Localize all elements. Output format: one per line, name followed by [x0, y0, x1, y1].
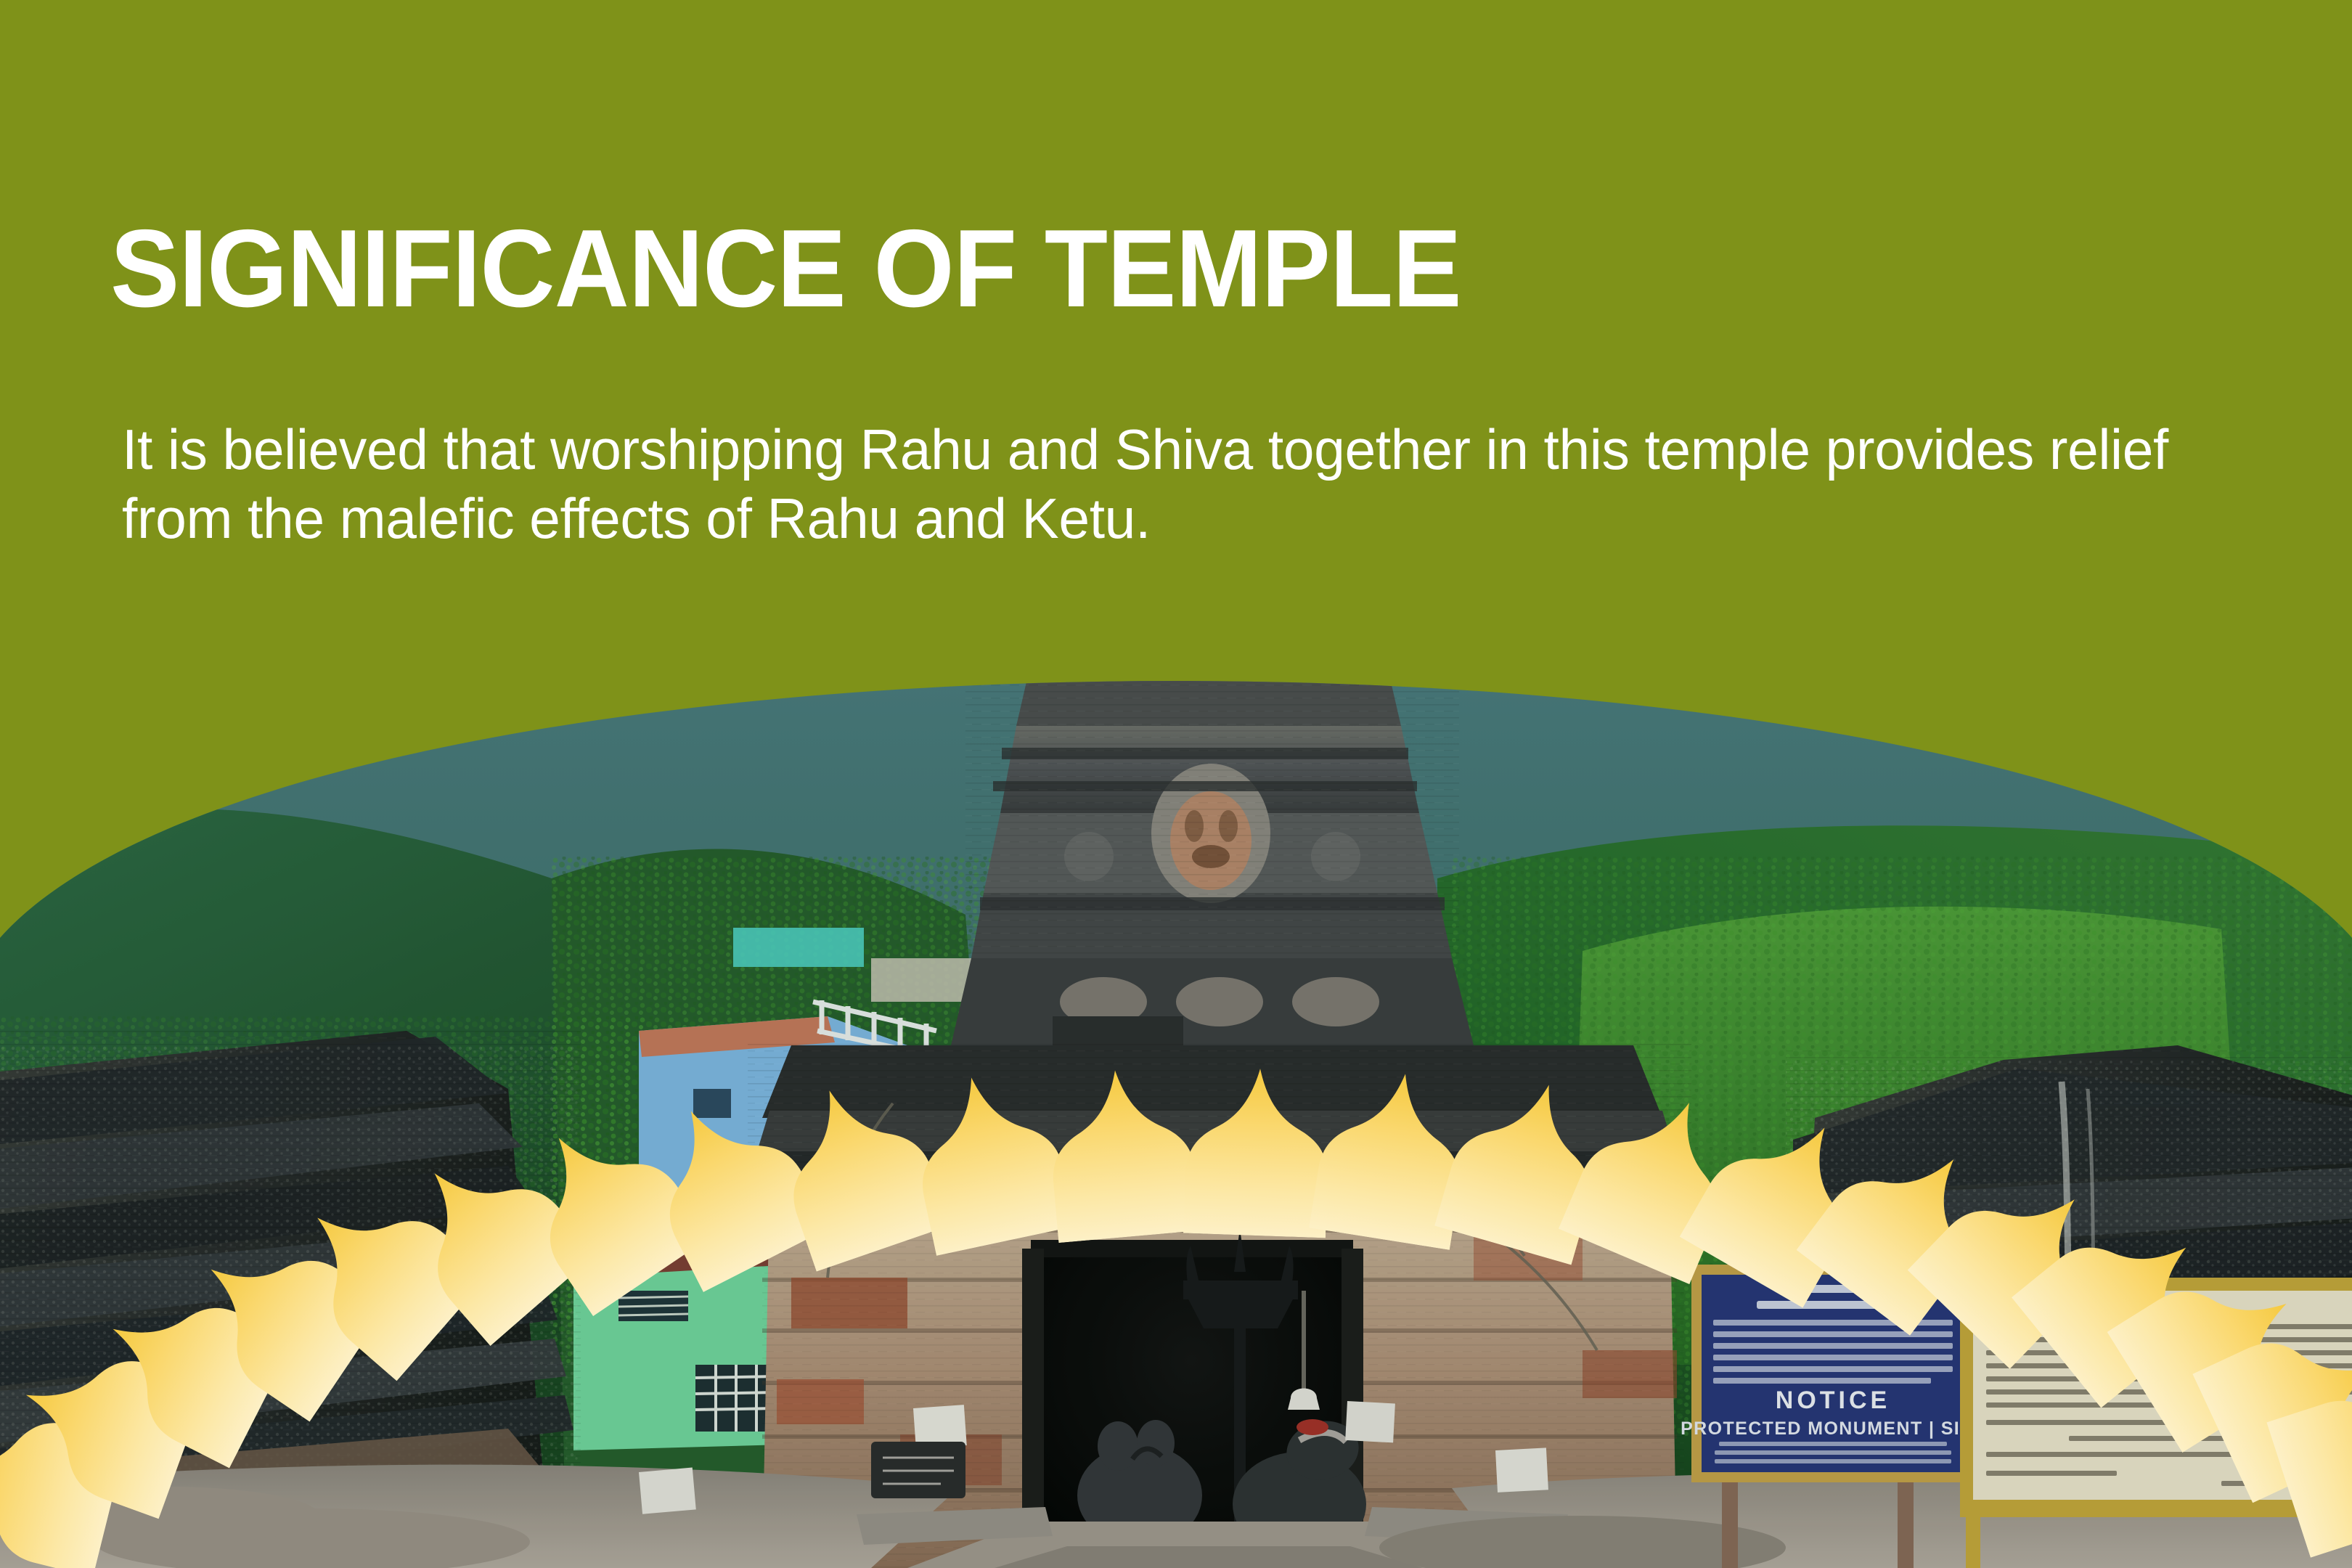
- page-title: SIGNIFICANCE OF TEMPLE: [110, 213, 1461, 324]
- temple-photograph: NOTICE PROTECTED MONUMENT | SITE: [0, 639, 2352, 1568]
- temple-photo-arch: NOTICE PROTECTED MONUMENT | SITE: [0, 639, 2352, 1568]
- slide-root: SIGNIFICANCE OF TEMPLE It is believed th…: [0, 0, 2352, 1568]
- body-paragraph: It is believed that worshipping Rahu and…: [122, 415, 2274, 553]
- arch-photo-svg: NOTICE PROTECTED MONUMENT | SITE: [0, 639, 2352, 1568]
